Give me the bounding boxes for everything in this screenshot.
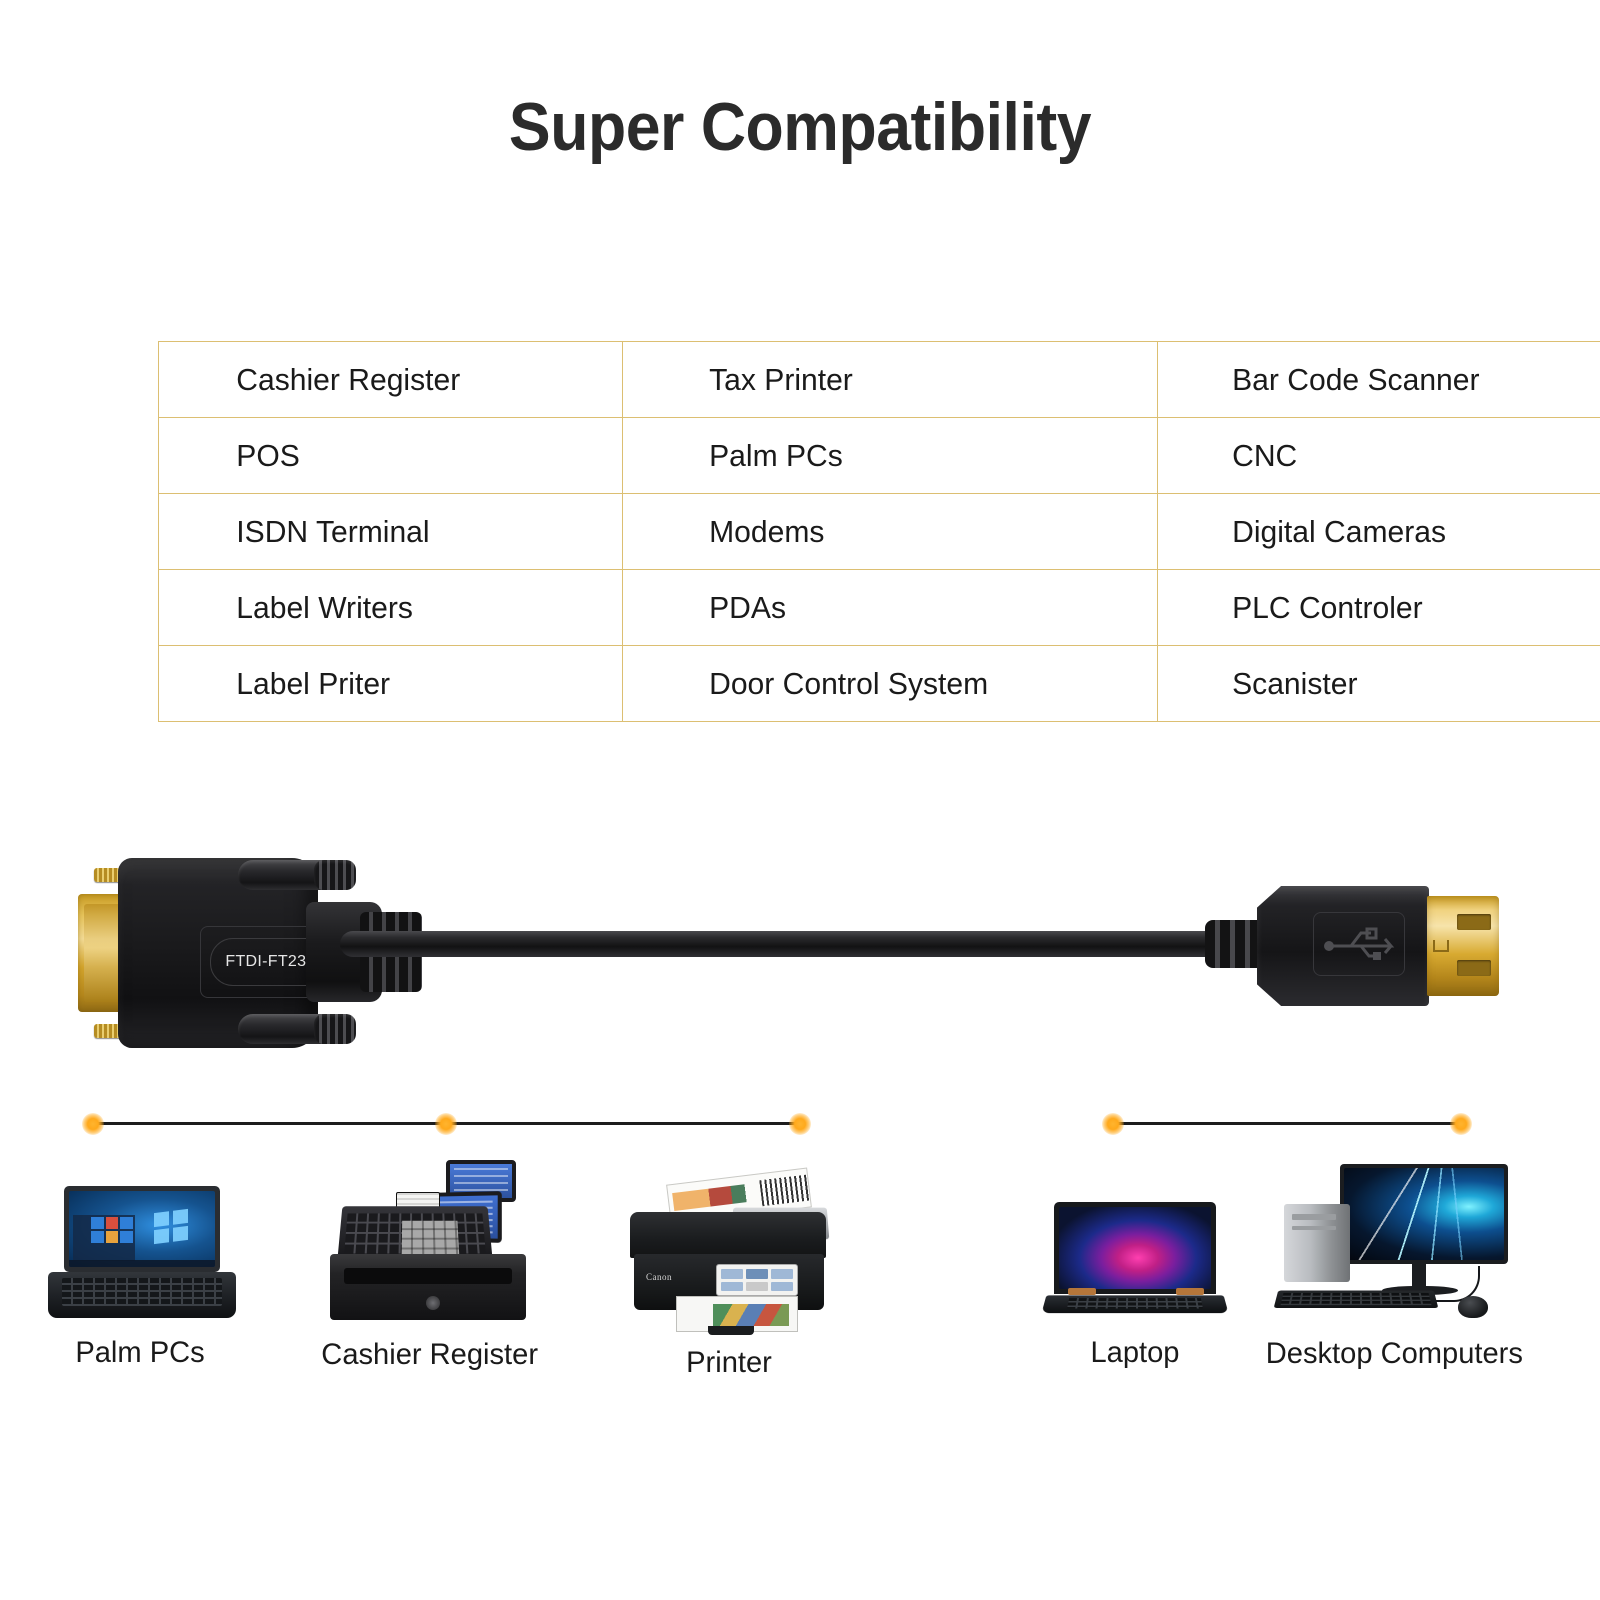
table-cell: PDAs bbox=[631, 570, 1150, 646]
product-photo: FTDI-FT232RL ⟨⟨ bbox=[0, 826, 1600, 1076]
laptop-icon bbox=[1040, 1196, 1230, 1326]
device-printer: Canon Printer bbox=[624, 1176, 834, 1380]
table-cell: PLC Controler bbox=[1165, 570, 1600, 646]
table-cell: ISDN Terminal bbox=[165, 494, 615, 570]
device-laptop: Laptop bbox=[1040, 1196, 1230, 1370]
glow-dot-icon bbox=[1450, 1113, 1472, 1135]
desktop-computer-icon bbox=[1262, 1162, 1512, 1327]
device-label: Laptop bbox=[1043, 1336, 1227, 1370]
device-label: Desktop Computers bbox=[1266, 1337, 1509, 1371]
table-cell: Bar Code Scanner bbox=[1165, 342, 1600, 418]
thumbscrew-top-icon bbox=[238, 860, 354, 890]
table-cell: Cashier Register bbox=[165, 342, 615, 418]
cash-register-icon bbox=[318, 1158, 538, 1328]
table-row: Label Priter Door Control System Scanist… bbox=[159, 646, 1600, 722]
device-label: Printer bbox=[627, 1346, 831, 1380]
table-cell: Scanister bbox=[1165, 646, 1600, 722]
table-row: ISDN Terminal Modems Digital Cameras bbox=[159, 494, 1600, 570]
glow-dot-icon bbox=[789, 1113, 811, 1135]
glow-dot-icon bbox=[1102, 1113, 1124, 1135]
table-cell: POS bbox=[165, 418, 615, 494]
table-row: Cashier Register Tax Printer Bar Code Sc… bbox=[159, 342, 1600, 418]
table-cell: Door Control System bbox=[631, 646, 1150, 722]
table-cell: CNC bbox=[1165, 418, 1600, 494]
device-desktop-computers: Desktop Computers bbox=[1262, 1162, 1512, 1371]
table-cell: Label Priter bbox=[165, 646, 615, 722]
mini-laptop-icon bbox=[42, 1186, 242, 1326]
table-cell: Digital Cameras bbox=[1165, 494, 1600, 570]
device-palm-pcs: Palm PCs bbox=[42, 1186, 238, 1370]
glow-dot-icon bbox=[435, 1113, 457, 1135]
table-cell: Palm PCs bbox=[631, 418, 1150, 494]
table-cell: Tax Printer bbox=[631, 342, 1150, 418]
table-cell: Label Writers bbox=[165, 570, 615, 646]
device-label: Cashier Register bbox=[321, 1338, 534, 1372]
thumbscrew-bottom-icon bbox=[238, 1014, 354, 1044]
inkjet-printer-icon: Canon bbox=[624, 1176, 834, 1336]
usb-a-connector-icon bbox=[1205, 864, 1495, 1034]
compatibility-table: Cashier Register Tax Printer Bar Code Sc… bbox=[158, 341, 1600, 722]
table-cell: Modems bbox=[631, 494, 1150, 570]
glow-dot-icon bbox=[82, 1113, 104, 1135]
usb-contact-shell bbox=[1427, 896, 1499, 996]
usb-trident-icon bbox=[1321, 924, 1397, 962]
connector-line-right bbox=[1112, 1122, 1460, 1125]
page-title: Super Compatibility bbox=[64, 88, 1536, 166]
usb-strain-relief bbox=[1205, 920, 1265, 968]
device-label: Palm PCs bbox=[45, 1336, 235, 1370]
cable-cord bbox=[340, 931, 1240, 957]
device-cashier-register: Cashier Register bbox=[318, 1158, 538, 1372]
table-row: POS Palm PCs CNC bbox=[159, 418, 1600, 494]
table-row: Label Writers PDAs PLC Controler bbox=[159, 570, 1600, 646]
